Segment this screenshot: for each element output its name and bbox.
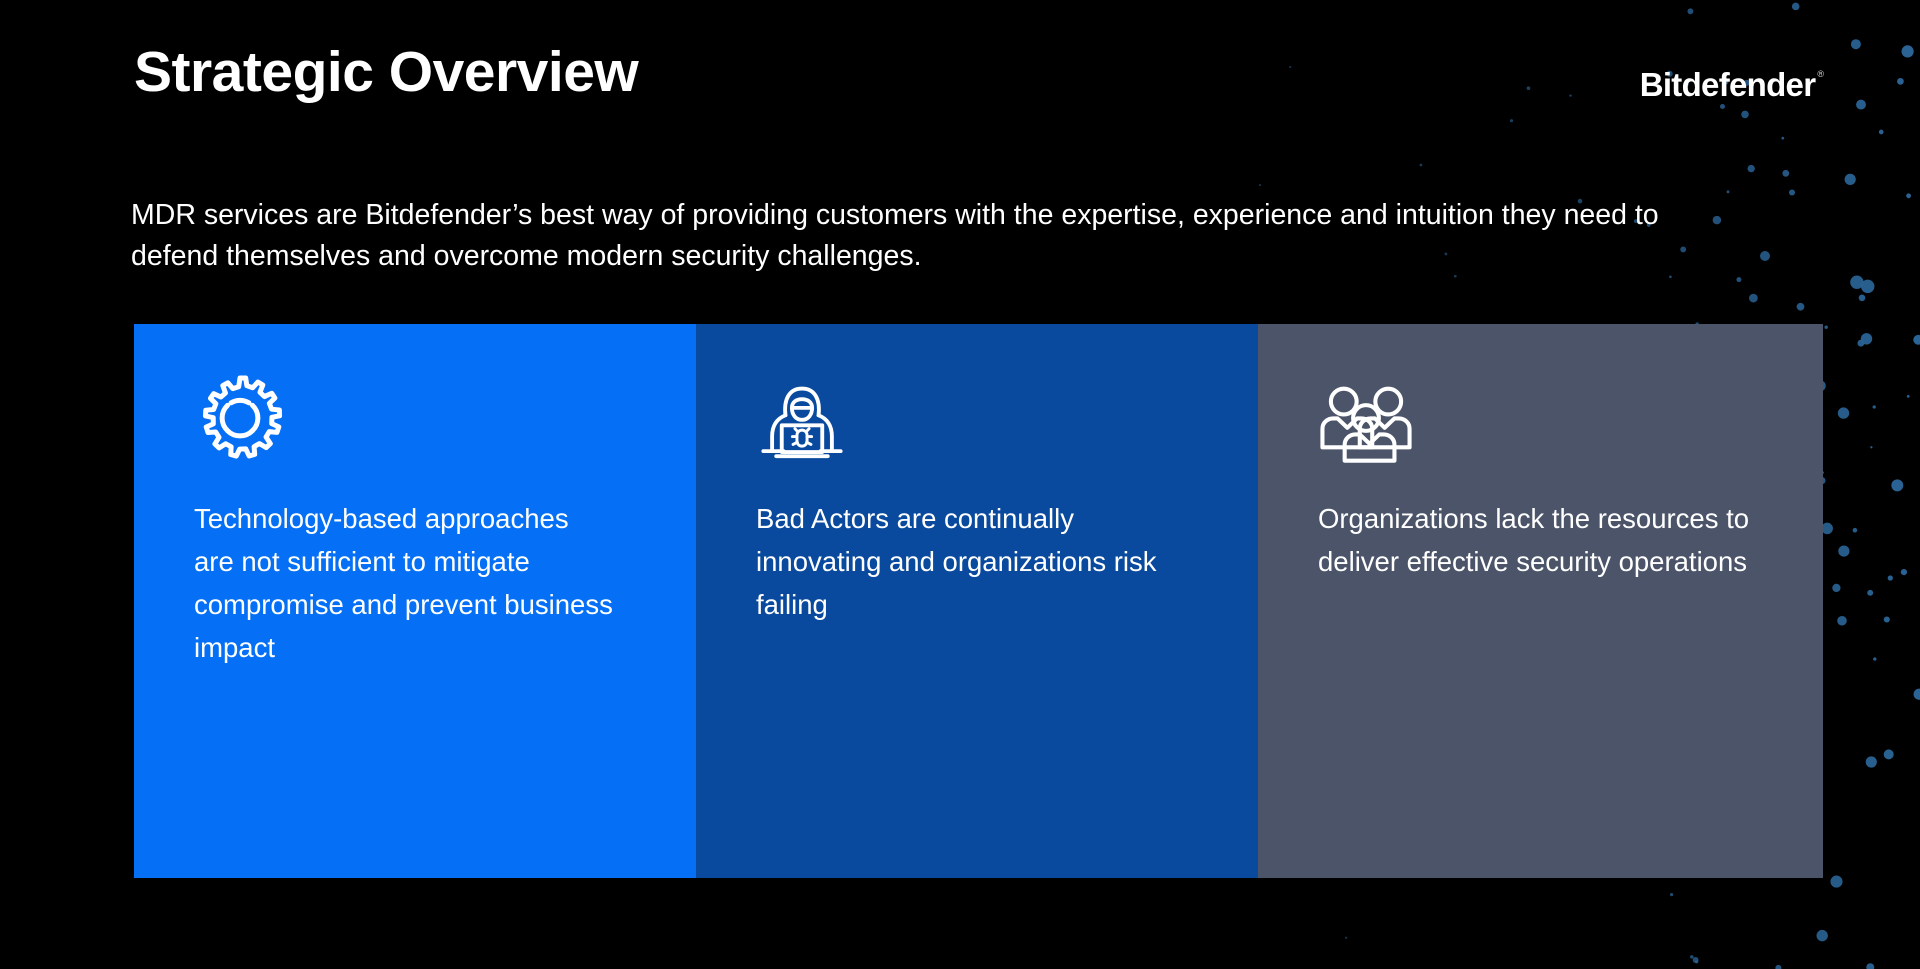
card-text: Organizations lack the resources to deli… (1318, 498, 1758, 584)
brand-logo-text: Bitdefender (1640, 68, 1816, 101)
gear-icon (194, 372, 644, 464)
card-organizations: Organizations lack the resources to deli… (1258, 324, 1823, 878)
bitdefender-logo: Bitdefender ® (1640, 68, 1824, 101)
card-text: Technology-based approaches are not suff… (194, 498, 614, 670)
page-title: Strategic Overview (134, 43, 638, 103)
card-text: Bad Actors are continually innovating an… (756, 498, 1176, 627)
card-band: Technology-based approaches are not suff… (134, 324, 1823, 878)
hacker-icon (756, 372, 1206, 464)
people-group-icon (1318, 372, 1771, 464)
card-technology: Technology-based approaches are not suff… (134, 324, 696, 878)
registered-trademark-icon: ® (1817, 70, 1824, 79)
card-bad-actors: Bad Actors are continually innovating an… (696, 324, 1258, 878)
slide-subtitle: MDR services are Bitdefender’s best way … (131, 195, 1691, 277)
